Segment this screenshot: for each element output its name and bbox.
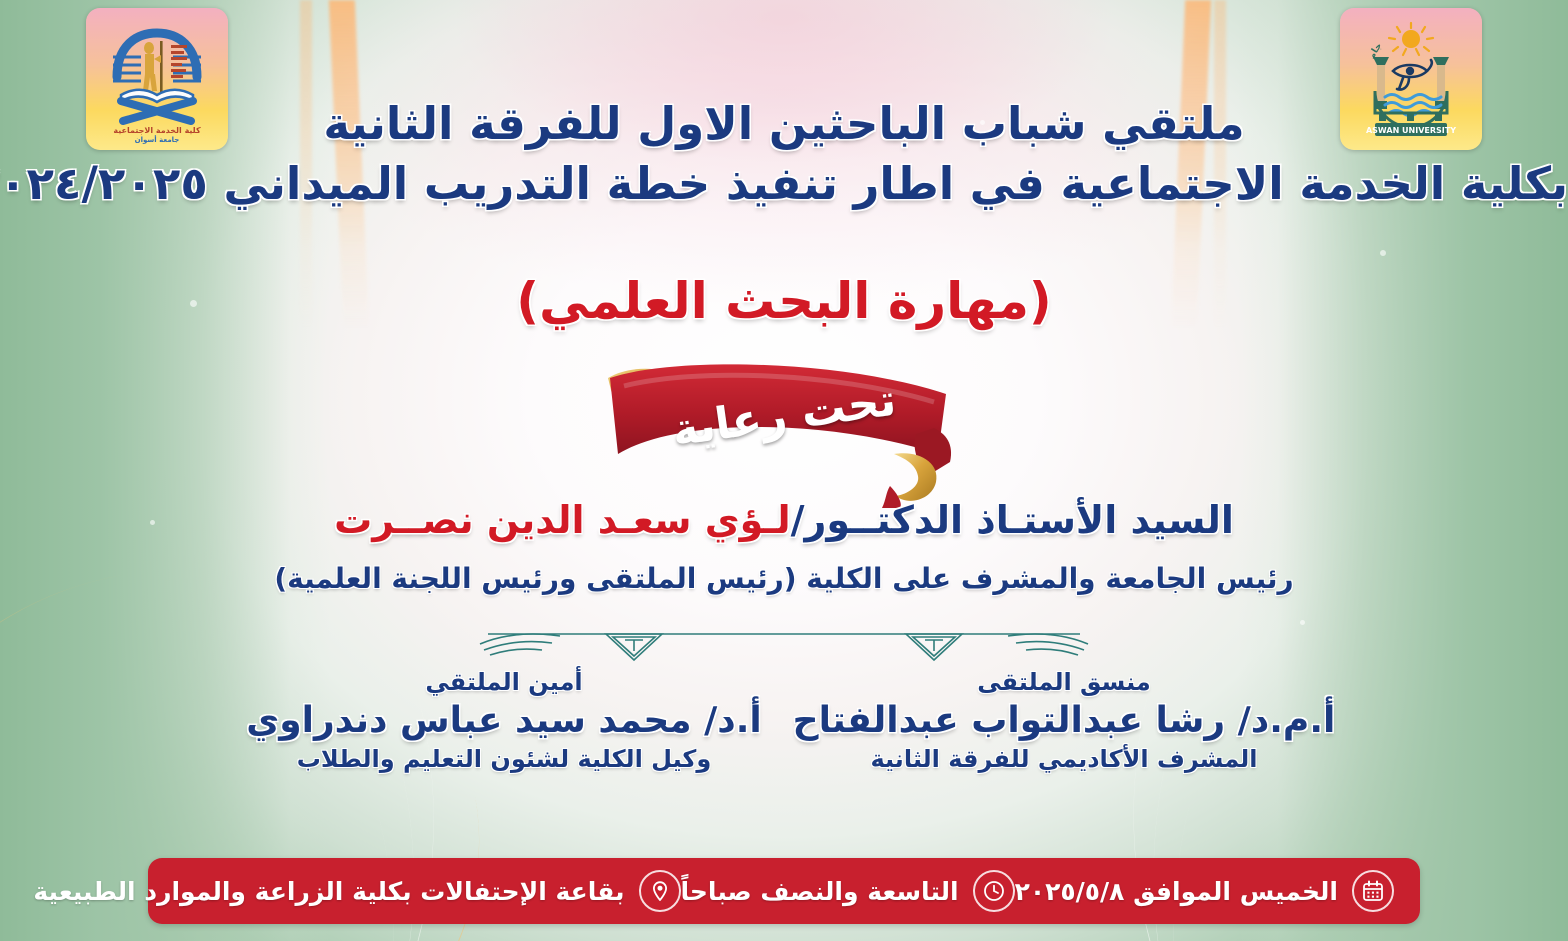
organizer-coordinator: منسق الملتقى أ.م.د/ رشا عبدالتواب عبدالف… <box>784 668 1344 773</box>
event-venue-text: بقاعة الإحتفالات بكلية الزراعة والموارد … <box>33 877 624 906</box>
pharaoh-figure <box>143 41 163 93</box>
patron-role: رئيس الجامعة والمشرف على الكلية (رئيس ال… <box>0 562 1568 595</box>
patron-name: لـؤي سعـد الدين نصــرت <box>334 498 791 542</box>
event-date-text: الخميس الموافق ٢٠٢٥/٥/٨ <box>1015 877 1338 906</box>
event-time-text: التاسعة والنصف صباحاً <box>681 877 959 906</box>
svg-text:جامعة أسوان: جامعة أسوان <box>1345 13 1384 61</box>
organizer-name: أ.د/ محمد سيد عباس دندراوي <box>224 700 784 741</box>
organizer-role-top: أمين الملتقي <box>224 668 784 696</box>
organizer-role-top: منسق الملتقى <box>784 668 1344 696</box>
organizer-role-bottom: وكيل الكلية لشئون التعليم والطلاب <box>224 745 784 773</box>
background-sparkle <box>1380 250 1386 256</box>
event-time-item: التاسعة والنصف صباحاً <box>681 870 1015 912</box>
event-details-bar: الخميس الموافق ٢٠٢٥/٥/٨ التاسعة والنصف ص… <box>148 858 1420 924</box>
event-venue-item: بقاعة الإحتفالات بكلية الزراعة والموارد … <box>33 870 680 912</box>
patronage-ribbon: تحت رعاية <box>0 358 1568 508</box>
poster-heading: ملتقي شباب الباحثين الاول للفرقة الثانية… <box>0 96 1568 213</box>
heading-line-1: ملتقي شباب الباحثين الاول للفرقة الثانية <box>0 96 1568 152</box>
organizer-secretary: أمين الملتقي أ.د/ محمد سيد عباس دندراوي … <box>224 668 784 773</box>
clock-icon <box>973 870 1015 912</box>
patron-title-prefix: السيد الأستـاذ الدكتــور/ <box>791 498 1234 542</box>
event-date-item: الخميس الموافق ٢٠٢٥/٥/٨ <box>1015 870 1394 912</box>
ornamental-divider <box>474 618 1094 666</box>
location-pin-icon <box>639 870 681 912</box>
calendar-icon <box>1352 870 1394 912</box>
organizers-section: منسق الملتقى أ.م.د/ رشا عبدالتواب عبدالف… <box>0 668 1568 773</box>
background-sparkle <box>1300 620 1305 625</box>
eye-of-horus-icon <box>1393 60 1432 90</box>
organizer-name: أ.م.د/ رشا عبدالتواب عبدالفتاح <box>784 700 1344 741</box>
patron-name-line: السيد الأستـاذ الدكتــور/لـؤي سعـد الدين… <box>0 498 1568 542</box>
event-poster: كلية الخدمة الاجتماعية جامعة أسوان جامعة… <box>0 0 1568 941</box>
heading-subtitle: (مهارة البحث العلمي) <box>0 272 1568 330</box>
organizer-role-bottom: المشرف الأكاديمي للفرقة الثانية <box>784 745 1344 773</box>
heading-line-2: بكلية الخدمة الاجتماعية في اطار تنفيذ خط… <box>0 156 1568 212</box>
